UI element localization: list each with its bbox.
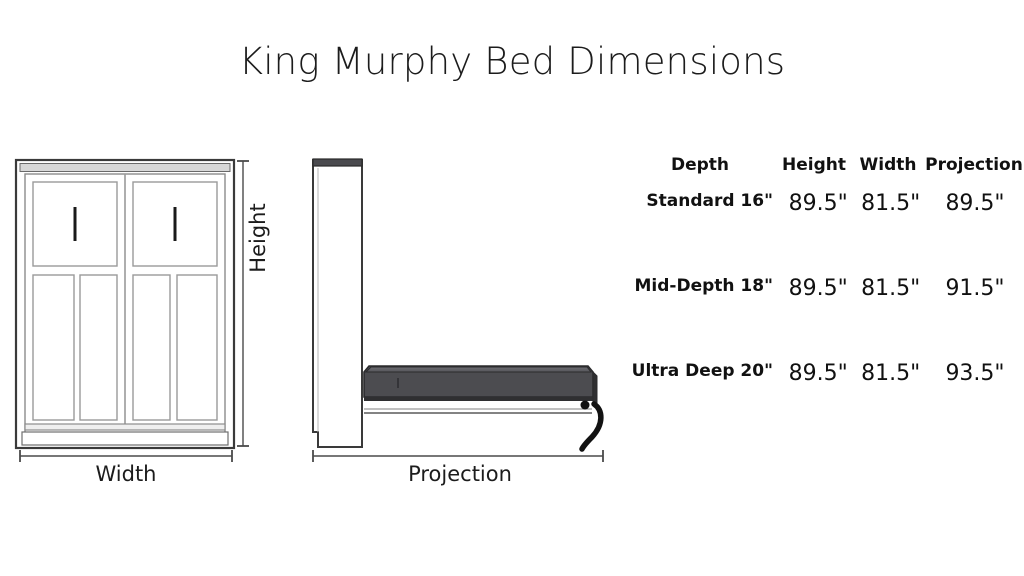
cell-projection: 91.5"	[926, 276, 1024, 301]
cell-height: 89.5"	[781, 276, 855, 301]
cell-height: 89.5"	[781, 191, 855, 216]
cell-depth: Mid-Depth 18"	[624, 276, 781, 296]
side-frame-edge	[364, 397, 596, 401]
table-row: Ultra Deep 20" 89.5" 81.5" 93.5"	[624, 361, 1024, 446]
cell-depth: Standard 16"	[624, 191, 781, 211]
front-base-rail	[22, 432, 228, 445]
column-header-projection: Projection	[924, 155, 1024, 175]
side-leg-pivot	[581, 401, 590, 410]
projection-dimension-line	[313, 450, 603, 462]
cell-width: 81.5"	[855, 276, 926, 301]
width-dimension-label: Width	[18, 462, 234, 486]
side-mattress-top-surface	[366, 367, 591, 372]
side-elevation-group	[313, 159, 603, 462]
width-dimension-line	[20, 450, 232, 462]
cell-depth: Ultra Deep 20"	[624, 361, 781, 381]
height-dimension-label: Height	[246, 158, 270, 318]
cell-projection: 93.5"	[926, 361, 1024, 386]
cell-width: 81.5"	[855, 361, 926, 386]
front-lower-rail	[25, 424, 225, 430]
front-cabinet-top-band	[20, 164, 230, 172]
front-bottom-panel-1	[33, 275, 74, 420]
side-folding-leg	[582, 404, 601, 449]
column-header-height: Height	[776, 155, 852, 175]
diagram-page: King Murphy Bed Dimensions	[0, 0, 1024, 576]
front-bottom-panel-2	[80, 275, 117, 420]
table-header-row: Depth Height Width Projection	[624, 155, 1024, 191]
front-bottom-panel-4	[177, 275, 217, 420]
cell-width: 81.5"	[855, 191, 926, 216]
front-elevation-group	[16, 160, 249, 462]
cell-height: 89.5"	[781, 361, 855, 386]
column-header-depth: Depth	[624, 155, 776, 175]
dimension-spec-table: Depth Height Width Projection Standard 1…	[624, 155, 1024, 446]
side-cabinet-body	[313, 160, 362, 447]
front-bottom-panel-3	[133, 275, 170, 420]
table-row: Mid-Depth 18" 89.5" 81.5" 91.5"	[624, 276, 1024, 361]
table-row: Standard 16" 89.5" 81.5" 89.5"	[624, 191, 1024, 276]
cell-projection: 89.5"	[926, 191, 1024, 216]
side-cabinet-top-cap	[313, 159, 362, 166]
projection-dimension-label: Projection	[312, 462, 608, 486]
column-header-width: Width	[852, 155, 924, 175]
side-deck-end-post	[593, 372, 597, 404]
